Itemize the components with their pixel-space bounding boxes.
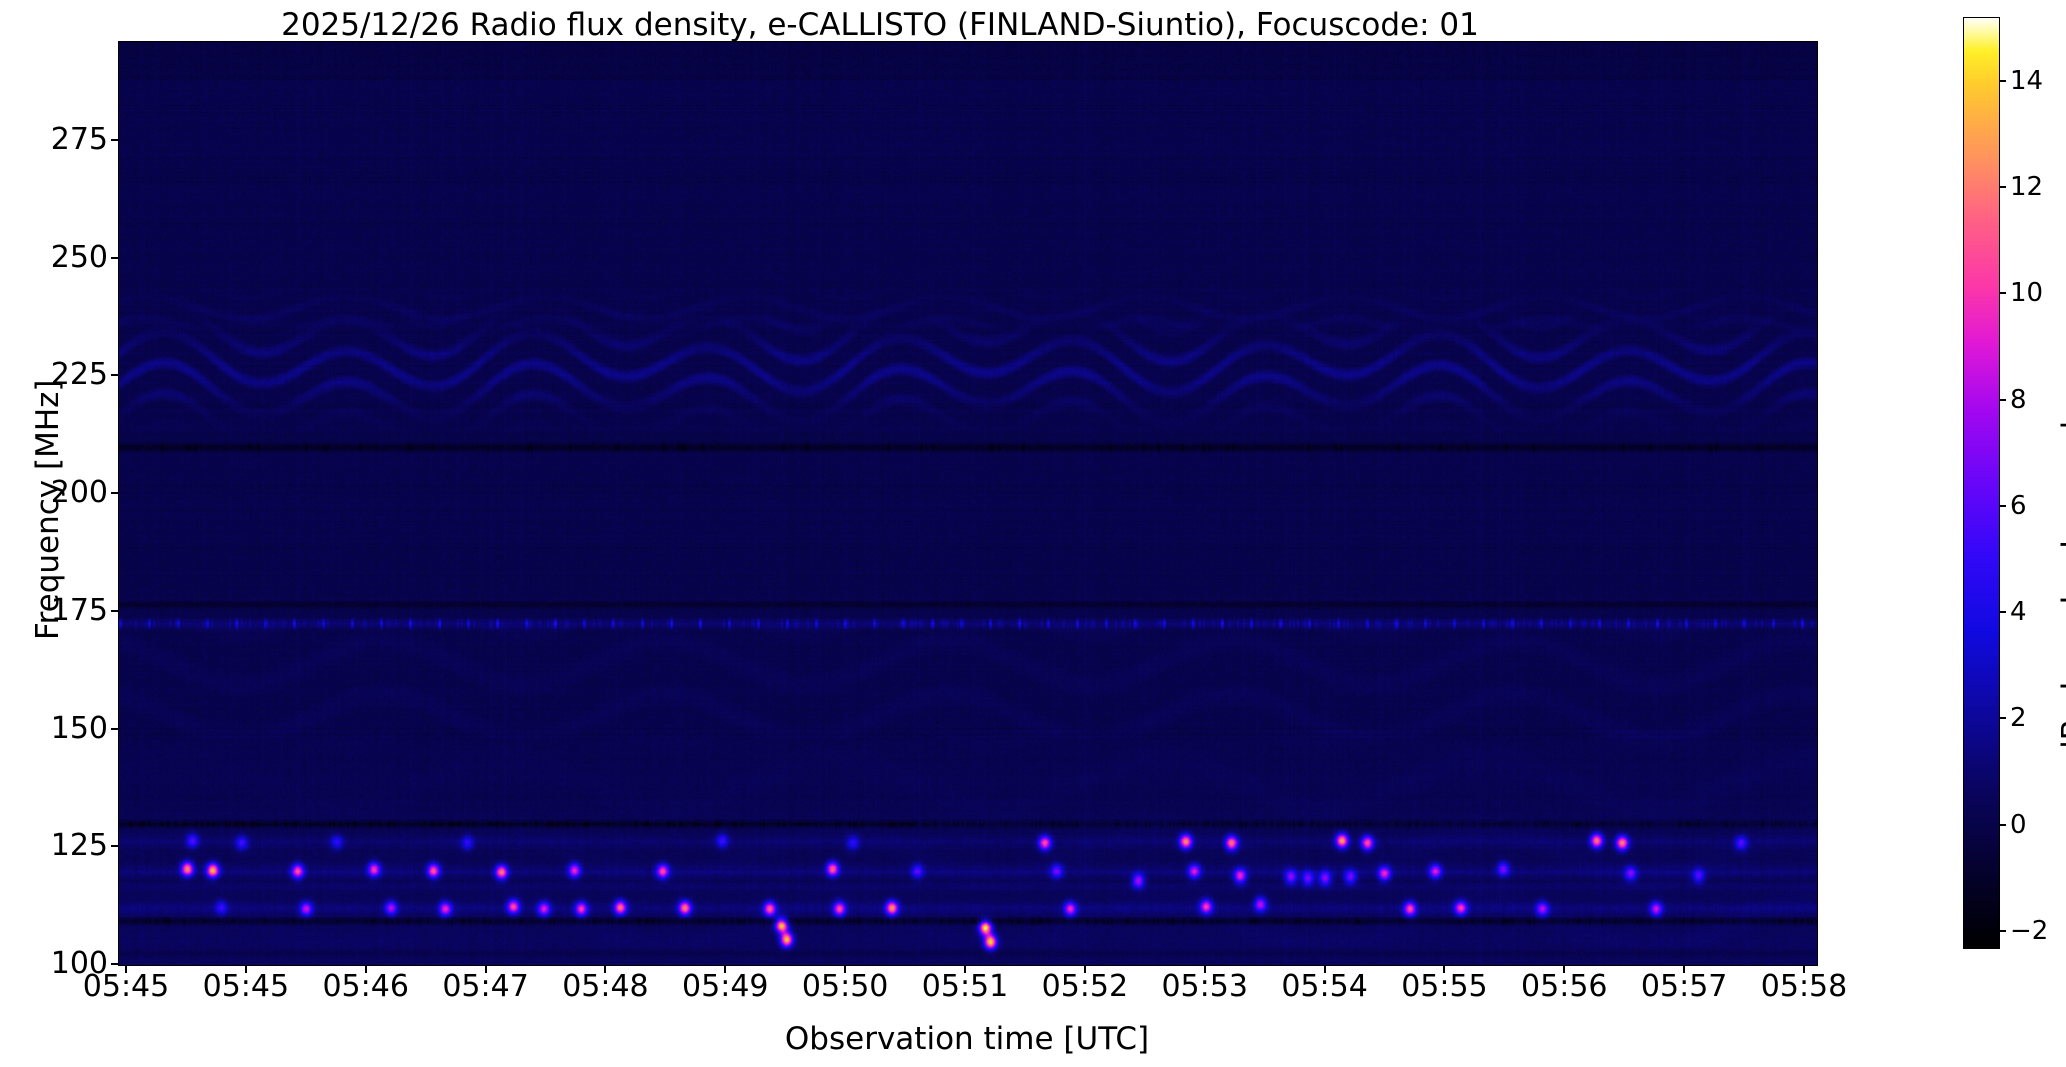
x-tick-mark bbox=[724, 965, 726, 973]
y-tick-label: 225 bbox=[51, 360, 108, 390]
x-tick-label: 05:51 bbox=[922, 972, 1008, 1002]
y-tick-label: 200 bbox=[51, 478, 108, 508]
colorbar-tick-mark bbox=[1999, 399, 2006, 401]
x-tick-mark bbox=[485, 965, 487, 973]
y-tick-mark bbox=[111, 139, 119, 141]
colorbar-tick-label: 8 bbox=[2010, 387, 2027, 413]
x-tick-mark bbox=[1204, 965, 1206, 973]
x-tick-label: 05:48 bbox=[562, 972, 648, 1002]
y-tick-label: 150 bbox=[51, 714, 108, 744]
x-axis-label: Observation time [UTC] bbox=[118, 1021, 1816, 1057]
colorbar-tick-label: 14 bbox=[2010, 68, 2043, 94]
x-tick-label: 05:53 bbox=[1161, 972, 1247, 1002]
x-tick-label: 05:56 bbox=[1521, 972, 1607, 1002]
colorbar-tick-mark bbox=[1999, 186, 2006, 188]
x-tick-label: 05:49 bbox=[682, 972, 768, 1002]
y-tick-mark bbox=[111, 728, 119, 730]
colorbar-label: dB above background bbox=[2056, 421, 2066, 760]
x-tick-mark bbox=[1443, 965, 1445, 973]
x-tick-mark bbox=[1324, 965, 1326, 973]
x-tick-mark bbox=[125, 965, 127, 973]
chart-title: 2025/12/26 Radio flux density, e-CALLIST… bbox=[0, 6, 1760, 44]
y-tick-label: 250 bbox=[51, 243, 108, 273]
x-tick-mark bbox=[1803, 965, 1805, 973]
y-tick-label: 125 bbox=[51, 831, 108, 861]
y-tick-label: 275 bbox=[51, 125, 108, 155]
x-tick-label: 05:55 bbox=[1401, 972, 1487, 1002]
colorbar-tick-label: 6 bbox=[2010, 493, 2027, 519]
colorbar-tick-mark bbox=[1999, 80, 2006, 82]
x-tick-label: 05:47 bbox=[442, 972, 528, 1002]
colorbar-tick-label: 10 bbox=[2010, 280, 2043, 306]
colorbar-tick-label: 4 bbox=[2010, 599, 2027, 625]
y-tick-mark bbox=[111, 610, 119, 612]
x-tick-label: 05:50 bbox=[802, 972, 888, 1002]
x-tick-label: 05:46 bbox=[322, 972, 408, 1002]
spectrogram-canvas bbox=[119, 42, 1817, 965]
x-tick-label: 05:57 bbox=[1641, 972, 1727, 1002]
x-tick-mark bbox=[604, 965, 606, 973]
colorbar-gradient bbox=[1964, 18, 1999, 948]
colorbar-tick-label: 12 bbox=[2010, 174, 2043, 200]
y-tick-mark bbox=[111, 257, 119, 259]
colorbar-tick-mark bbox=[1999, 824, 2006, 826]
x-tick-label: 05:45 bbox=[83, 972, 169, 1002]
x-tick-mark bbox=[365, 965, 367, 973]
colorbar-tick-mark bbox=[1999, 505, 2006, 507]
y-tick-mark bbox=[111, 374, 119, 376]
y-tick-mark bbox=[111, 963, 119, 965]
y-tick-mark bbox=[111, 492, 119, 494]
colorbar-tick-label: 2 bbox=[2010, 705, 2027, 731]
x-tick-label: 05:52 bbox=[1042, 972, 1128, 1002]
x-tick-mark bbox=[245, 965, 247, 973]
colorbar-tick-label: 0 bbox=[2010, 812, 2027, 838]
colorbar-tick-label: −2 bbox=[2010, 918, 2048, 944]
x-tick-label: 05:54 bbox=[1281, 972, 1367, 1002]
x-tick-mark bbox=[964, 965, 966, 973]
x-tick-mark bbox=[1084, 965, 1086, 973]
colorbar-tick-mark bbox=[1999, 717, 2006, 719]
x-tick-label: 05:58 bbox=[1761, 972, 1847, 1002]
colorbar-tick-mark bbox=[1999, 930, 2006, 932]
x-tick-mark bbox=[844, 965, 846, 973]
colorbar-tick-mark bbox=[1999, 292, 2006, 294]
colorbar-tick-mark bbox=[1999, 611, 2006, 613]
x-tick-mark bbox=[1563, 965, 1565, 973]
x-tick-label: 05:45 bbox=[203, 972, 289, 1002]
spectrogram-plot-area bbox=[118, 41, 1818, 966]
y-tick-label: 175 bbox=[51, 596, 108, 626]
colorbar bbox=[1963, 17, 2000, 949]
y-tick-mark bbox=[111, 845, 119, 847]
x-tick-mark bbox=[1683, 965, 1685, 973]
